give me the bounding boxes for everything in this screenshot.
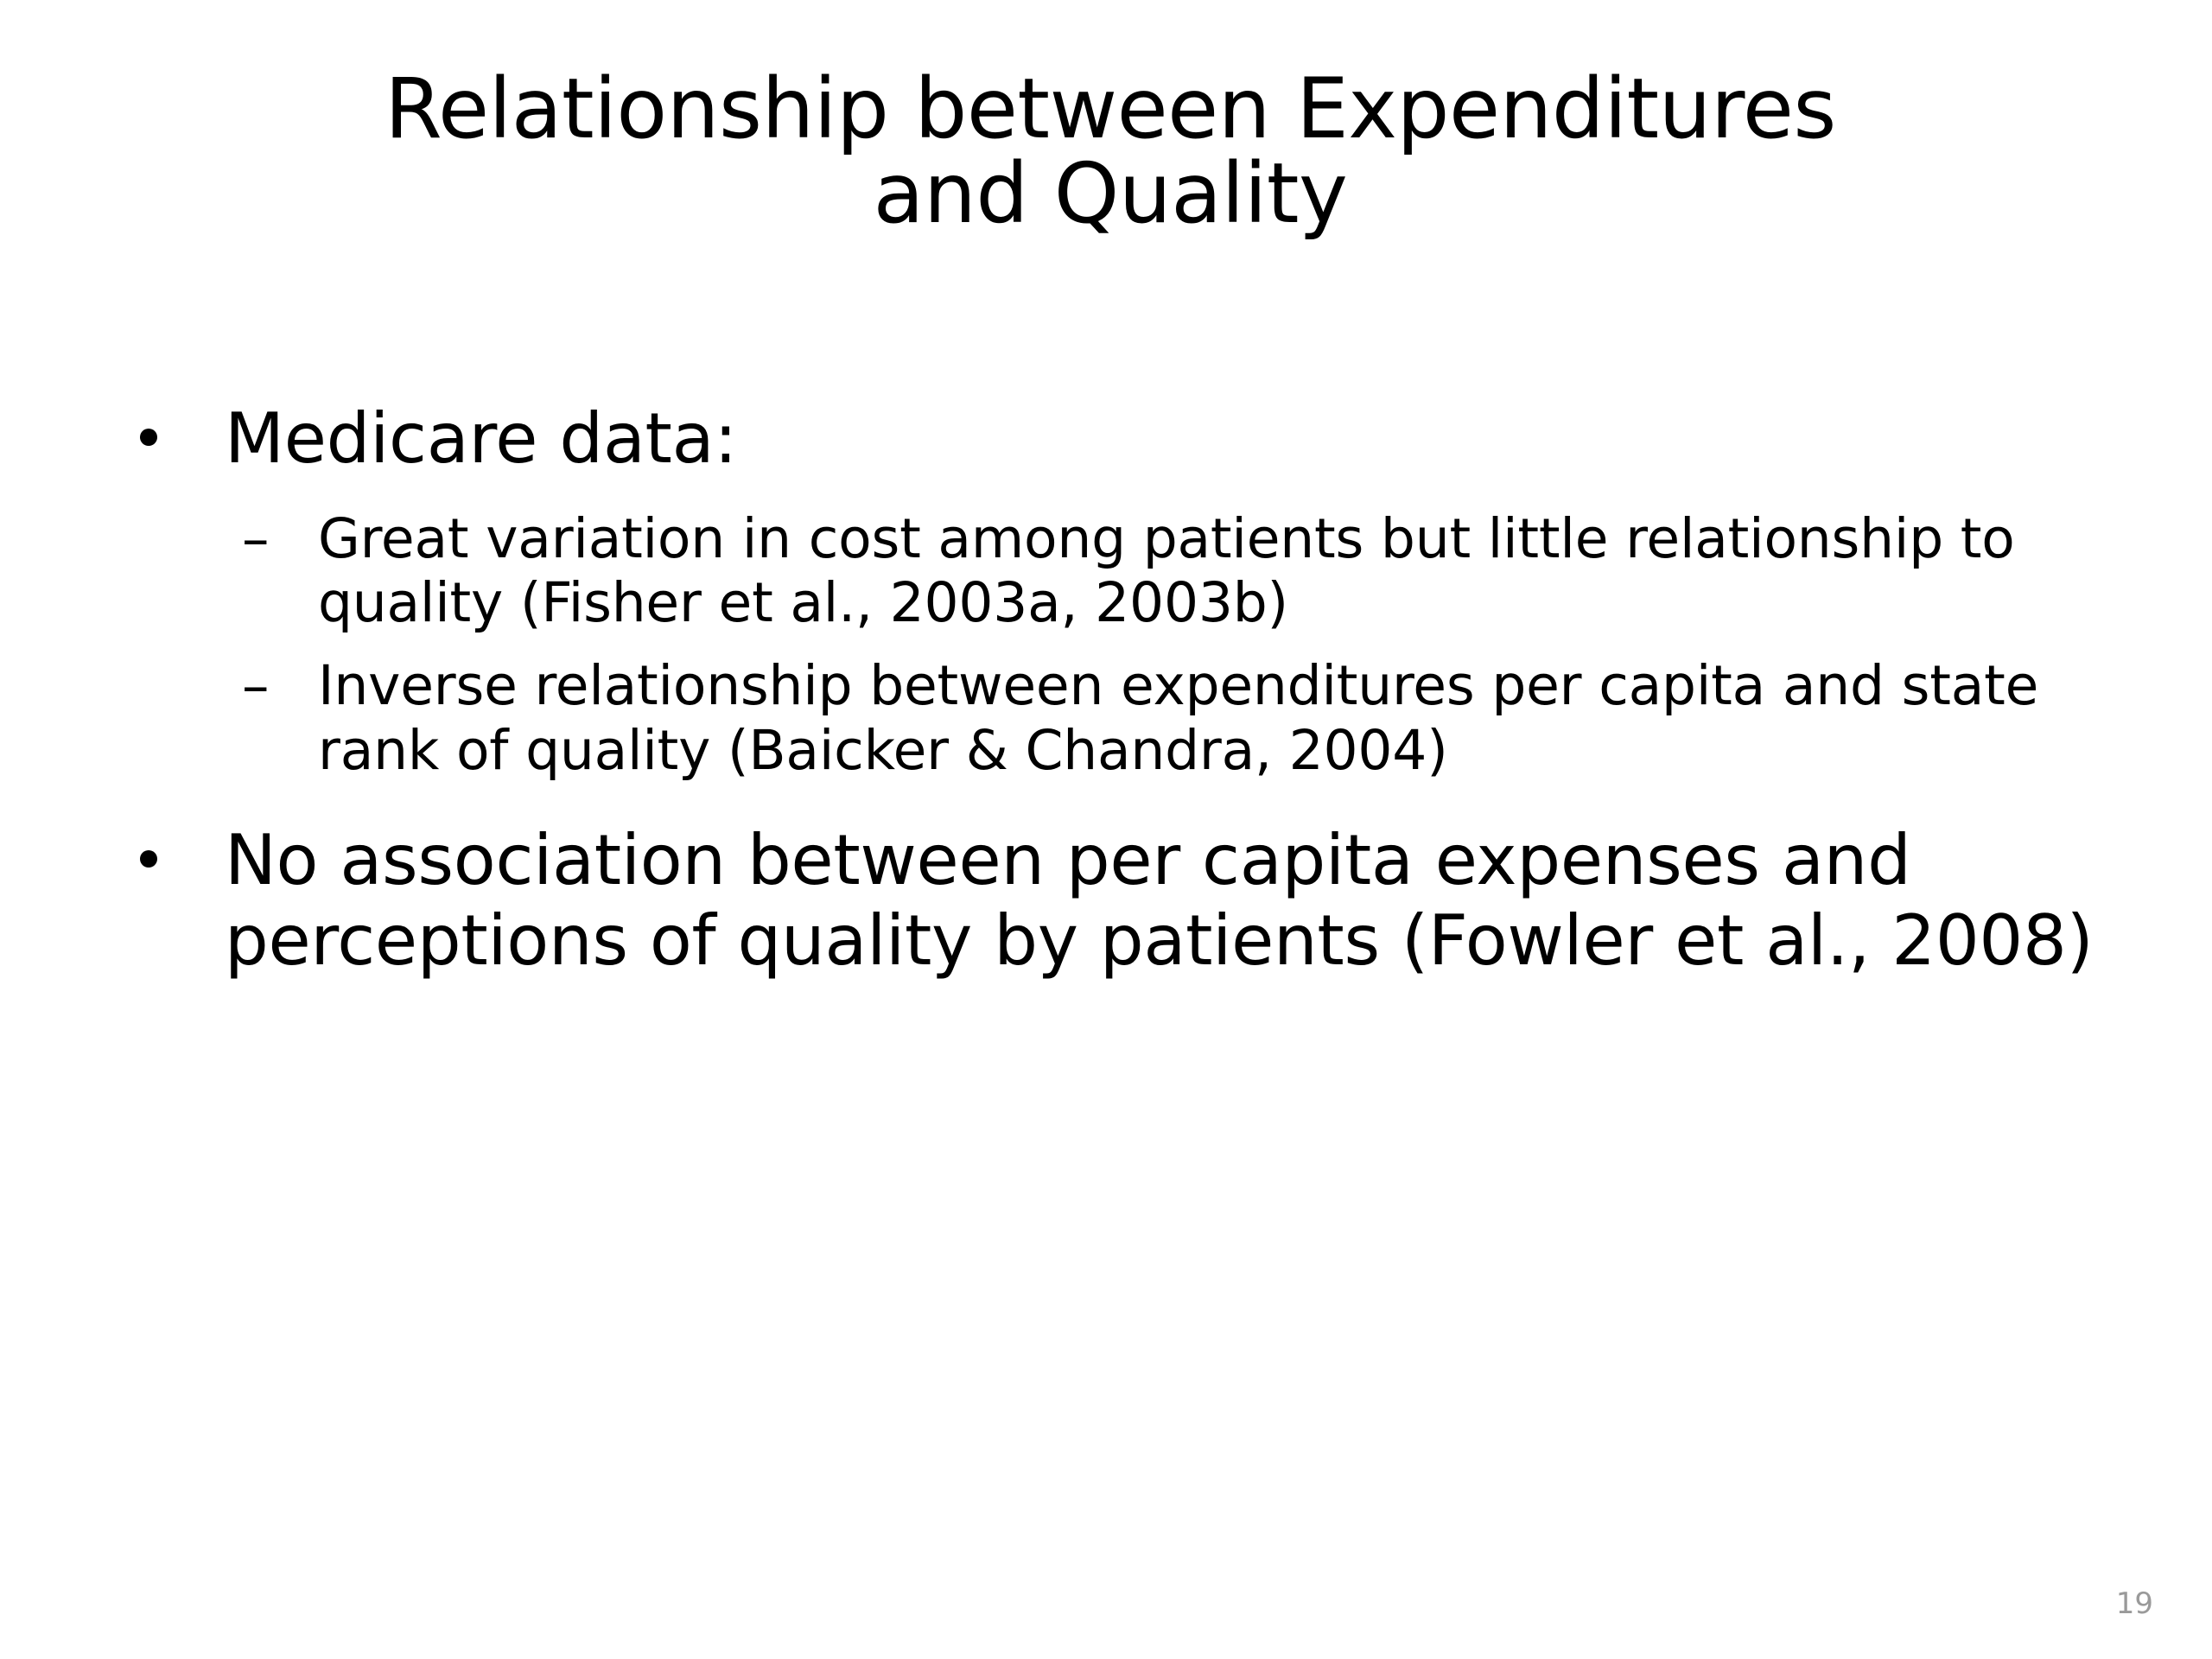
bullet-level2-label: Great variation in cost among patients b…: [318, 507, 2015, 634]
bullet-level1-no-association: No association between per capita expens…: [130, 821, 2108, 982]
page-title-line-2: and Quality: [130, 152, 2091, 237]
bullet-level2-fisher: – Great variation in cost among patients…: [130, 507, 2108, 636]
page-title-line-1: Relationship between Expenditures: [130, 67, 2091, 152]
bullet-dot-icon: [140, 429, 157, 446]
page-title: Relationship between Expenditures and Qu…: [130, 67, 2091, 237]
page-number: 19: [2116, 1586, 2153, 1621]
spacer: [130, 783, 2108, 821]
presentation-slide: Relationship between Expenditures and Qu…: [0, 0, 2212, 1659]
spacer: [130, 480, 2108, 492]
bullet-level2-label: Inverse relationship between expenditure…: [318, 654, 2038, 781]
sub-bullet-list: – Great variation in cost among patients…: [130, 507, 2108, 783]
bullet-level1-medicare-data: Medicare data:: [130, 399, 2108, 480]
bullet-level1-label: No association between per capita expens…: [225, 820, 2094, 981]
slide-body: Medicare data: – Great variation in cost…: [130, 399, 2108, 982]
bullet-level2-baicker-chandra: – Inverse relationship between expenditu…: [130, 654, 2108, 783]
en-dash-icon: –: [242, 507, 287, 571]
spacer: [130, 635, 2108, 654]
en-dash-icon: –: [242, 654, 287, 718]
bullet-level1-label: Medicare data:: [225, 398, 737, 479]
bullet-dot-icon: [140, 850, 157, 868]
